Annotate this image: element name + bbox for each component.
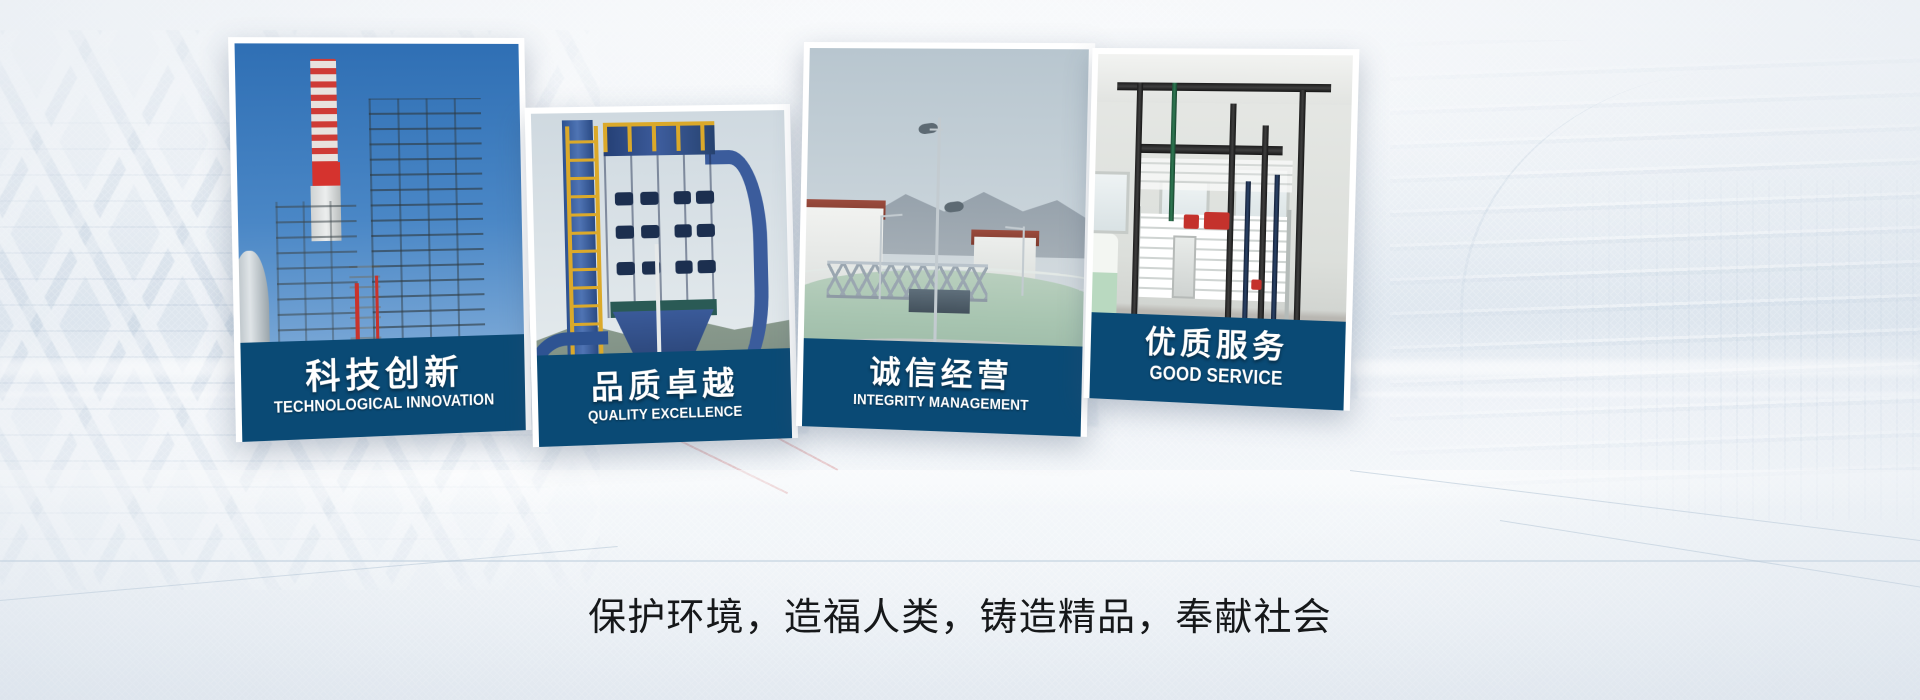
banner-slogan: 保护环境，造福人类，铸造精品，奉献社会 xyxy=(0,586,1920,641)
panel-inner: 诚信经营 INTEGRITY MANAGEMENT xyxy=(802,48,1089,437)
feature-panel-technological-innovation[interactable]: 科技创新 TECHNOLOGICAL INNOVATION xyxy=(228,37,532,442)
panel-title-en: QUALITY EXCELLENCE xyxy=(588,402,743,424)
feature-panel-quality-excellence[interactable]: 品质卓越 QUALITY EXCELLENCE xyxy=(525,104,799,447)
valve-nozzle xyxy=(641,224,659,238)
panel-title-en: GOOD SERVICE xyxy=(1149,362,1283,390)
warning-sign xyxy=(1184,215,1200,229)
valve-nozzle xyxy=(615,192,633,206)
window xyxy=(1089,171,1130,234)
warning-sign xyxy=(1251,280,1262,291)
valve-nozzle xyxy=(675,260,693,274)
panel-caption: 科技创新 TECHNOLOGICAL INNOVATION xyxy=(240,334,525,442)
bridge-carriage xyxy=(909,289,971,314)
panel-inner: 优质服务 GOOD SERVICE xyxy=(1089,54,1353,410)
valve-nozzle xyxy=(673,191,691,205)
panel-title-cn: 品质卓越 xyxy=(591,366,740,405)
control-panel xyxy=(1172,235,1196,298)
valve-nozzle xyxy=(674,224,692,238)
chimney-red-band xyxy=(312,162,340,186)
panel-title-cn: 优质服务 xyxy=(1144,327,1289,367)
valve-nozzle xyxy=(616,261,634,275)
panel-caption: 品质卓越 QUALITY EXCELLENCE xyxy=(537,348,792,447)
valve-nozzle xyxy=(640,191,658,205)
feature-panel-integrity-management[interactable]: 诚信经营 INTEGRITY MANAGEMENT xyxy=(796,42,1095,437)
warning-sign xyxy=(1204,212,1230,230)
panel-title-cn: 科技创新 xyxy=(305,354,464,397)
panel-title-cn: 诚信经营 xyxy=(869,356,1013,395)
panel-caption: 诚信经营 INTEGRITY MANAGEMENT xyxy=(802,338,1083,437)
valve-nozzle xyxy=(616,225,634,239)
panel-caption: 优质服务 GOOD SERVICE xyxy=(1089,312,1345,410)
panel-inner: 科技创新 TECHNOLOGICAL INNOVATION xyxy=(235,43,526,442)
lamp-arm xyxy=(929,129,943,131)
membrane-vessels-upper xyxy=(1134,158,1292,193)
valve-nozzle xyxy=(697,223,715,237)
ceiling xyxy=(1097,54,1353,105)
feature-panel-good-service[interactable]: 优质服务 GOOD SERVICE xyxy=(1083,48,1359,411)
panel-inner: 品质卓越 QUALITY EXCELLENCE xyxy=(531,110,792,447)
banner-stage: 科技创新 TECHNOLOGICAL INNOVATION xyxy=(0,0,1920,700)
platform-railing xyxy=(603,121,715,153)
valve-nozzle xyxy=(696,190,714,204)
valve-nozzle xyxy=(697,259,715,273)
